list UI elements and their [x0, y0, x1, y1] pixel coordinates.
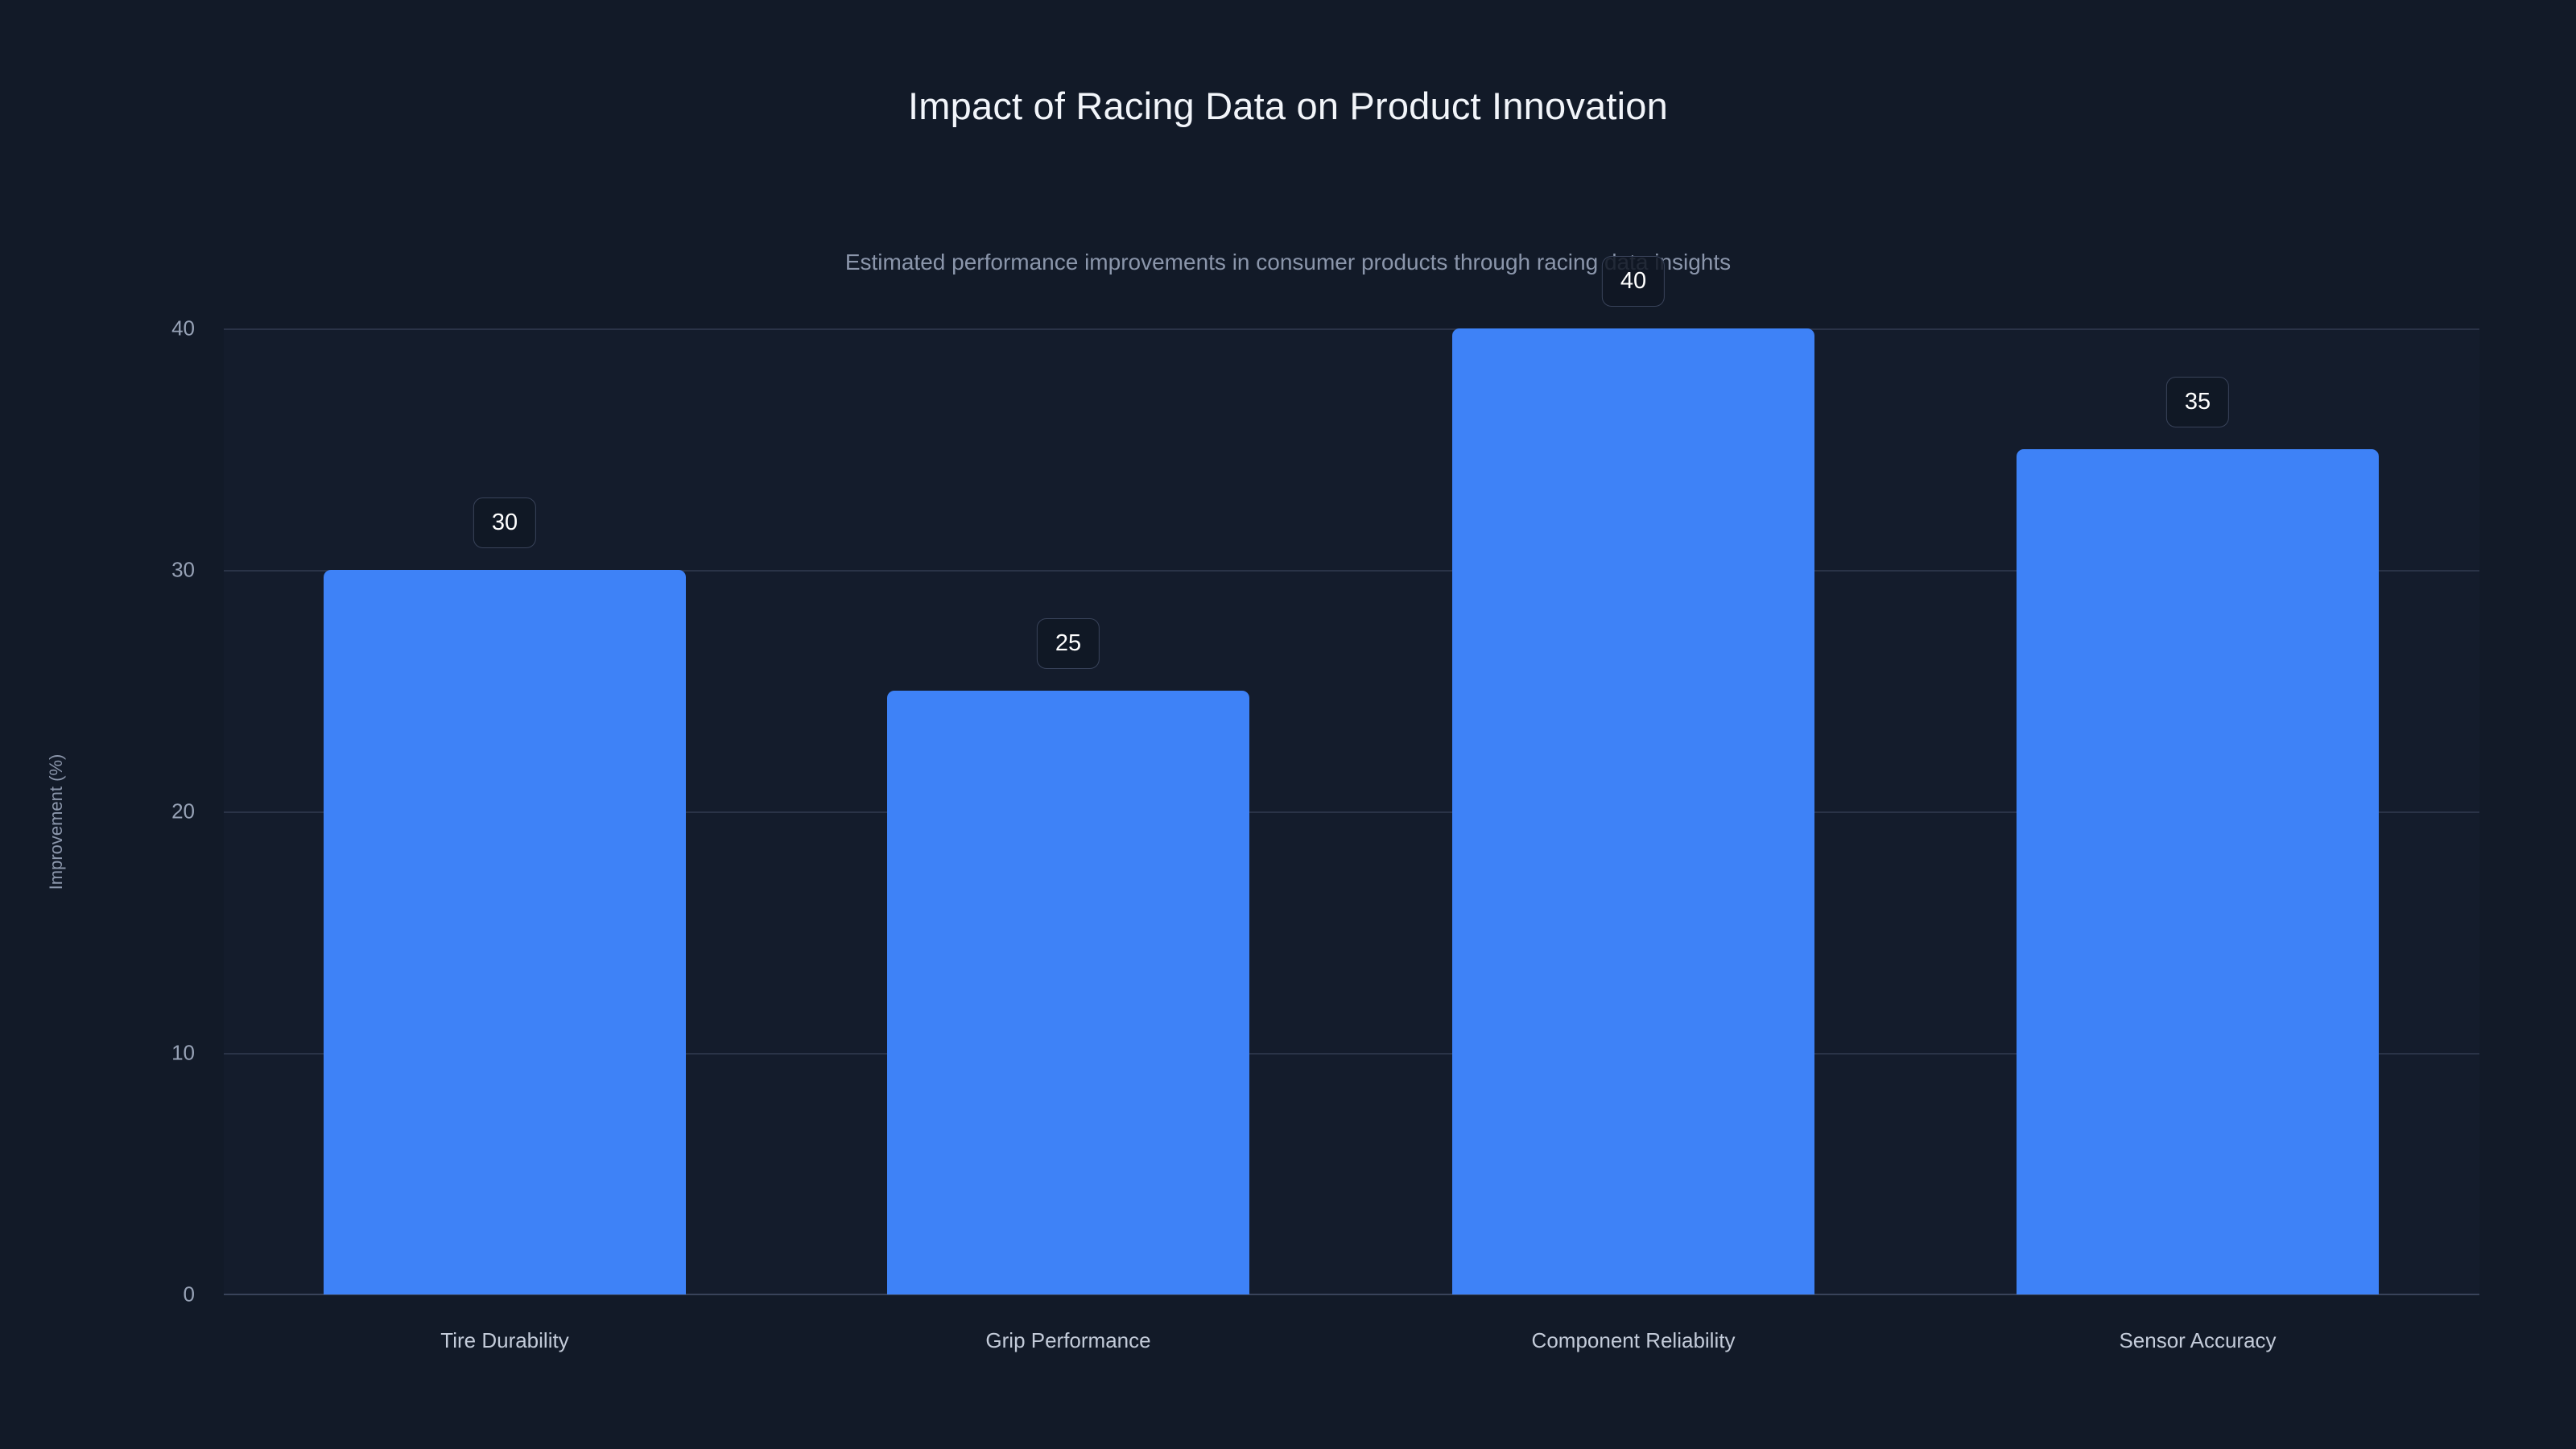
y-tick-label-40: 40: [105, 316, 195, 341]
chart-subtitle: Estimated performance improvements in co…: [0, 250, 2576, 275]
y-tick-label-0: 0: [105, 1282, 195, 1307]
value-badge-grip-performance: 25: [1037, 618, 1100, 669]
chart-title: Impact of Racing Data on Product Innovat…: [0, 84, 2576, 128]
gridline-40: [224, 328, 2479, 330]
y-axis-title: Improvement (%): [46, 717, 67, 927]
y-tick-label-30: 30: [105, 558, 195, 583]
y-tick-label-10: 10: [105, 1041, 195, 1066]
x-tick-label-component-reliability: Component Reliability: [1532, 1328, 1736, 1353]
chart-canvas: Impact of Racing Data on Product Innovat…: [0, 0, 2576, 1449]
bar-component-reliability[interactable]: [1452, 328, 1814, 1294]
value-badge-tire-durability: 30: [473, 497, 536, 548]
x-tick-label-tire-durability: Tire Durability: [440, 1328, 568, 1353]
value-badge-sensor-accuracy: 35: [2166, 377, 2229, 427]
y-tick-label-20: 20: [105, 799, 195, 824]
value-badge-component-reliability: 40: [1602, 256, 1665, 307]
bar-sensor-accuracy[interactable]: [2017, 449, 2379, 1294]
x-tick-label-grip-performance: Grip Performance: [985, 1328, 1150, 1353]
bar-grip-performance[interactable]: [887, 691, 1249, 1294]
x-tick-label-sensor-accuracy: Sensor Accuracy: [2119, 1328, 2276, 1353]
bar-tire-durability[interactable]: [324, 570, 686, 1294]
